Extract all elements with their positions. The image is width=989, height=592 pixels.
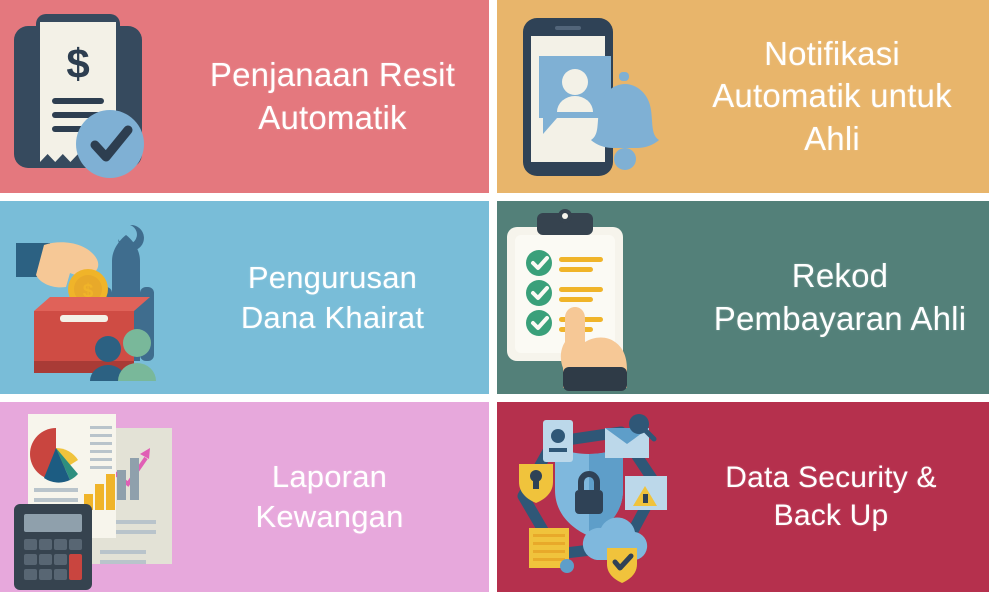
label-line: Ahli	[697, 118, 967, 160]
feature-card-data-security[interactable]: Data Security & Back Up	[497, 402, 989, 592]
label-line: Dana Khairat	[190, 298, 475, 338]
grid-gap	[489, 394, 497, 402]
feature-card-label: Notifikasi Automatik untuk Ahli	[697, 33, 989, 160]
grid-gap	[489, 201, 497, 394]
data-security-shield-network-icon	[497, 402, 697, 592]
label-line: Laporan	[200, 457, 459, 497]
feature-card-receipt[interactable]: $ Penjanaan Resit Automatik	[0, 0, 489, 193]
feature-card-label: Laporan Kewangan	[200, 457, 489, 536]
label-line: Back Up	[697, 497, 965, 535]
label-line: Data Security &	[697, 459, 965, 497]
feature-grid: $ Penjanaan Resit Automatik	[0, 0, 989, 592]
grid-gap	[489, 402, 497, 592]
phone-notification-bell-icon	[497, 0, 697, 193]
donation-box-hand-coin-mosque-icon: $	[0, 201, 190, 394]
financial-report-calculator-icon	[0, 402, 200, 592]
feature-card-label: Data Security & Back Up	[697, 459, 989, 536]
feature-card-label: Rekod Pembayaran Ahli	[697, 255, 989, 339]
feature-card-fund[interactable]: $ Pengurusan Dana Khairat	[0, 201, 489, 394]
label-line: Kewangan	[200, 497, 459, 537]
svg-text:$: $	[66, 40, 89, 87]
feature-card-label: Pengurusan Dana Khairat	[190, 258, 489, 337]
feature-card-label: Penjanaan Resit Automatik	[190, 54, 489, 138]
feature-card-financial-report[interactable]: Laporan Kewangan	[0, 402, 489, 592]
label-line: Pembayaran Ahli	[697, 298, 983, 340]
feature-card-notification[interactable]: Notifikasi Automatik untuk Ahli	[497, 0, 989, 193]
label-line: Rekod	[697, 255, 983, 297]
label-line: Automatik untuk	[697, 75, 967, 117]
label-line: Pengurusan	[190, 258, 475, 298]
grid-gap	[497, 394, 989, 402]
grid-gap	[489, 0, 497, 193]
grid-gap	[0, 394, 489, 402]
checklist-clipboard-hand-icon	[497, 201, 697, 394]
grid-gap	[0, 193, 489, 201]
grid-gap	[489, 193, 497, 201]
receipt-check-icon: $	[0, 0, 190, 193]
label-line: Penjanaan Resit	[190, 54, 475, 96]
grid-gap	[497, 193, 989, 201]
label-line: Automatik	[190, 97, 475, 139]
feature-card-payment-record[interactable]: Rekod Pembayaran Ahli	[497, 201, 989, 394]
label-line: Notifikasi	[697, 33, 967, 75]
